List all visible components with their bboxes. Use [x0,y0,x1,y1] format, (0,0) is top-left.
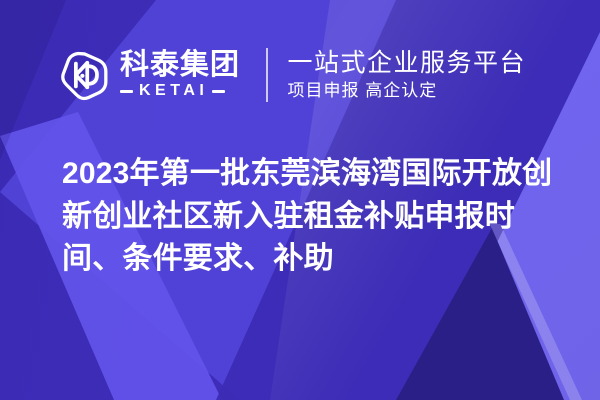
wordmark-dash-right [212,90,225,93]
wordmark-dash-left [120,90,133,93]
logo-wordmark: 科泰集团 KETAI [120,51,240,100]
company-name-cn: 科泰集团 [120,51,240,81]
ketai-logo-icon [58,49,110,101]
promo-banner: 科泰集团 KETAI 一站式企业服务平台 项目申报 高企认定 2023年第一批东… [0,0,600,400]
slogan-secondary: 项目申报 高企认定 [288,81,527,101]
banner-headline: 2023年第一批东莞滨海湾国际开放创新创业社区新入驻租金补贴申报时间、条件要求、… [62,153,562,281]
company-name-en: KETAI [139,83,208,99]
slogan-block: 一站式企业服务平台 项目申报 高企认定 [288,49,527,101]
header-divider [266,48,268,102]
slogan-primary: 一站式企业服务平台 [288,49,527,77]
company-name-en-row: KETAI [120,83,240,99]
banner-header: 科泰集团 KETAI 一站式企业服务平台 项目申报 高企认定 [58,44,526,106]
